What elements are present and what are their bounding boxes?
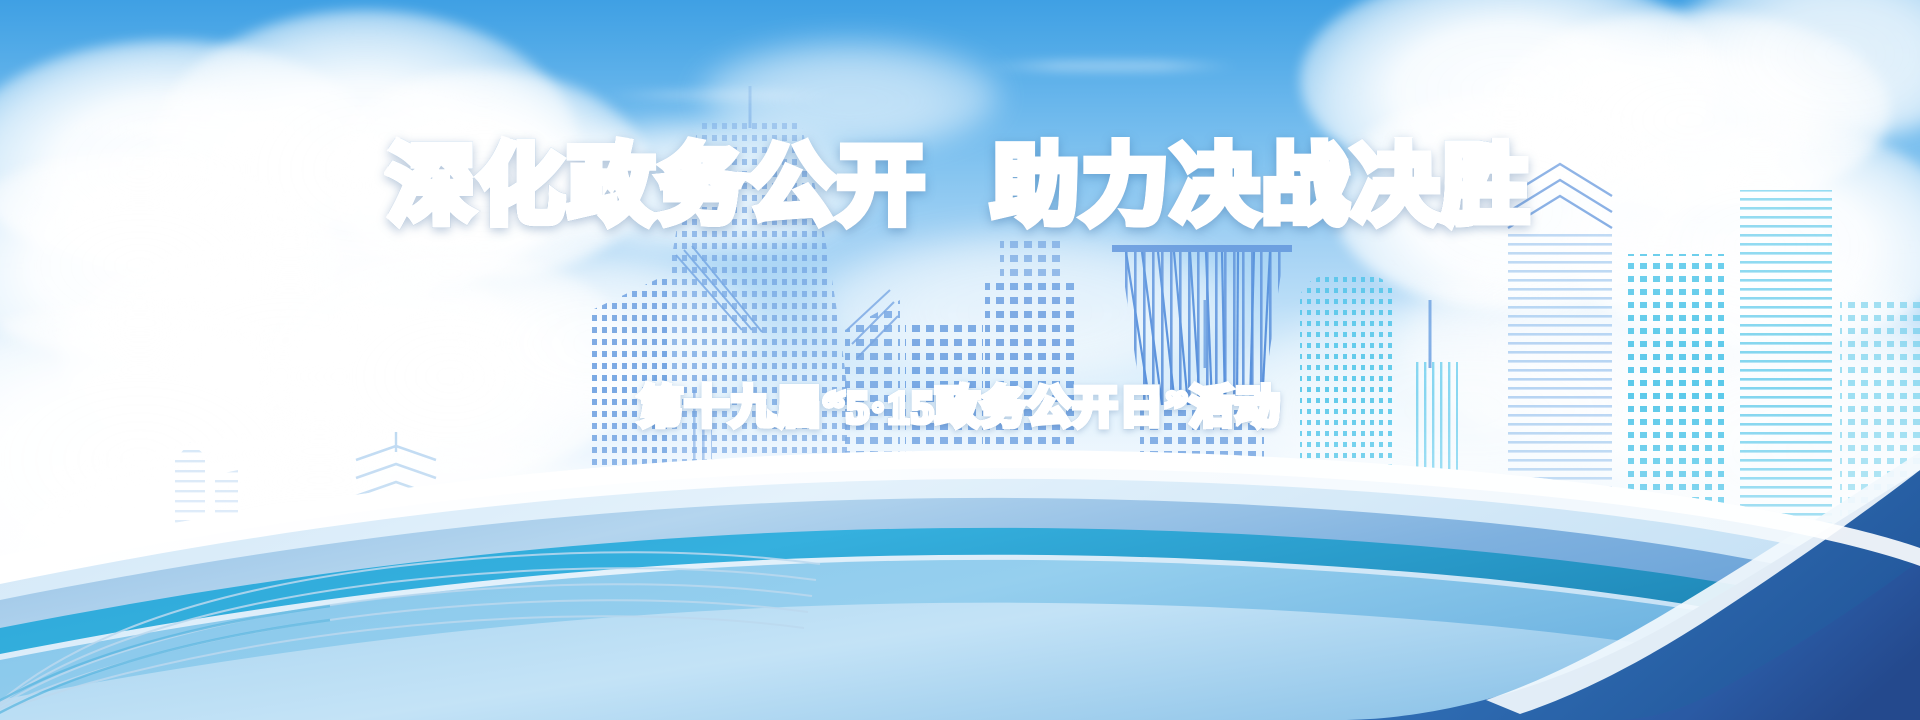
headline-part-2: 助力决战决胜 bbox=[992, 138, 1532, 234]
wave-ribbon-graphic bbox=[0, 0, 1920, 720]
banner-subtitle: 第十九届“5·15政务公开日”活动 bbox=[0, 382, 1920, 435]
banner-headline: 深化政务公开助力决战决胜 bbox=[0, 138, 1920, 234]
headline-part-1: 深化政务公开 bbox=[388, 138, 928, 234]
subtitle-text: 第十九届“5·15政务公开日”活动 bbox=[639, 382, 1282, 435]
banner-root: 深化政务公开助力决战决胜 第十九届“5·15政务公开日”活动 bbox=[0, 0, 1920, 720]
